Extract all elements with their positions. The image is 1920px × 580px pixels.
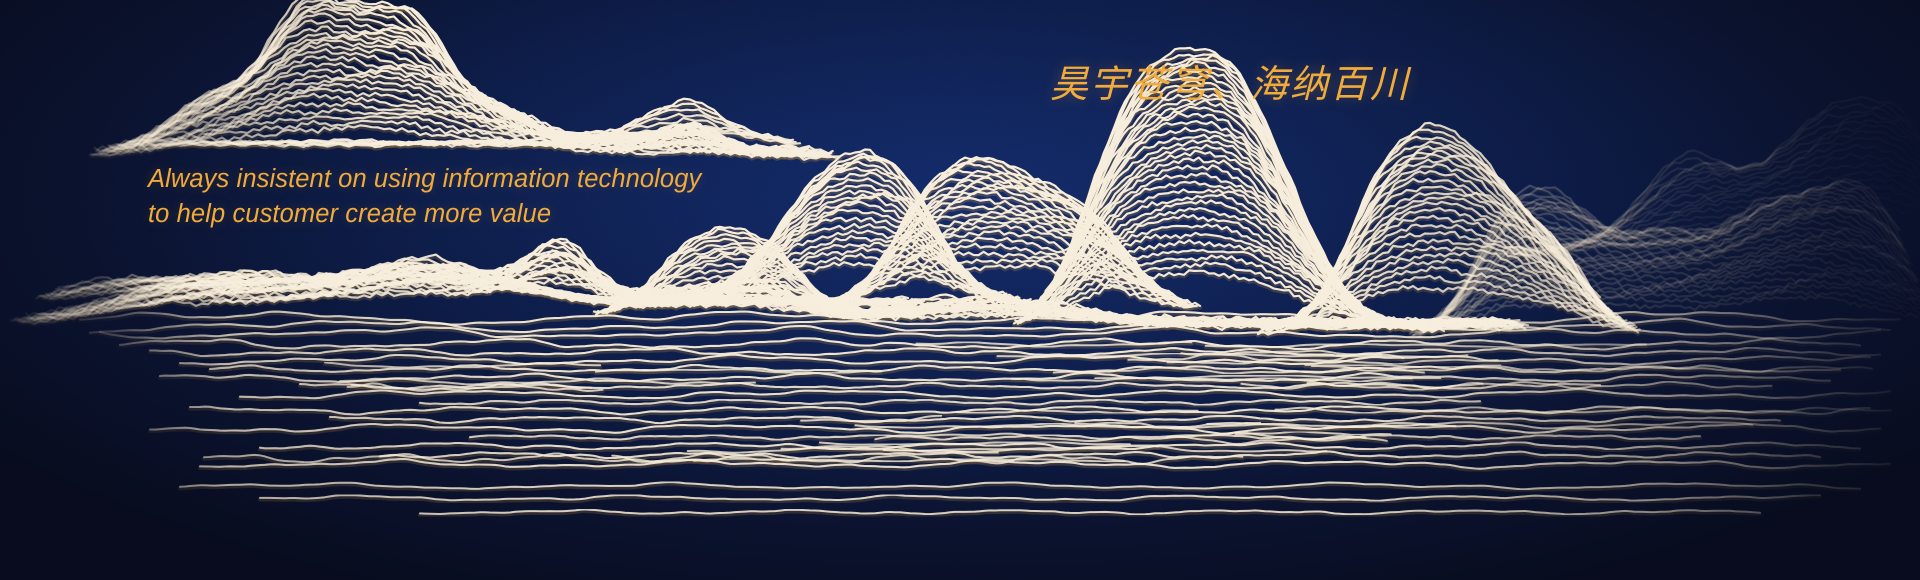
banner-title-cn: 昊宇苍穹、海纳百川 xyxy=(1050,63,1410,108)
tagline-line-1: Always insistent on using information te… xyxy=(148,162,701,197)
tagline-line-2: to help customer create more value xyxy=(148,197,701,232)
hero-banner: 昊宇苍穹、海纳百川 Always insistent on using info… xyxy=(0,0,1920,580)
banner-tagline: Always insistent on using information te… xyxy=(148,162,701,232)
text-overlay: 昊宇苍穹、海纳百川 Always insistent on using info… xyxy=(0,0,1920,580)
